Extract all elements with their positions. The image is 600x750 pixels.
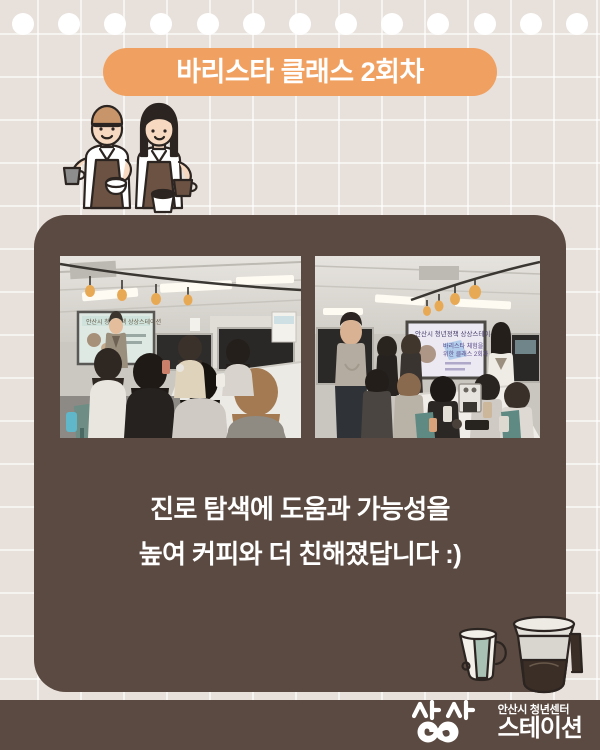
body-line-1: 진로 탐색에 도움과 가능성을 (34, 487, 566, 532)
top-dot (58, 13, 80, 35)
svg-text:바리스타 체험을: 바리스타 체험을 (443, 342, 484, 350)
svg-text:위한 클래스 2회차: 위한 클래스 2회차 (443, 350, 489, 358)
svg-text:안산시 청년정책 상상스테이션: 안산시 청년정책 상상스테이션 (86, 318, 161, 326)
footer-logo: 안산시 청년센터 스테이션 (412, 698, 582, 744)
page-title: 바리스타 클래스 2회차 (176, 59, 424, 86)
coffee-pot-and-mug-illustration (452, 604, 586, 694)
promo-card: 바리스타 클래스 2회차 (0, 0, 600, 750)
body-message: 진로 탐색에 도움과 가능성을 높여 커피와 더 친해졌답니다 :) (34, 487, 566, 576)
sangsang-infinity-logo-mark (412, 700, 490, 744)
footer-logo-sub: 안산시 청년센터 (498, 704, 570, 716)
photo-class-lecture: 안산시 청년정책 상상스테이션 (60, 256, 301, 438)
top-dot (150, 13, 172, 35)
photo-group-photo: 안산시 청년정책 상상스테이션 바리스타 체험을 위한 클래스 2회차 (315, 256, 540, 438)
top-dot (104, 13, 126, 35)
top-dot (381, 13, 403, 35)
top-dot (427, 13, 449, 35)
top-dot (335, 13, 357, 35)
footer-logo-words: 안산시 청년센터 스테이션 (498, 704, 582, 744)
top-dot (566, 13, 588, 35)
top-dot (520, 13, 542, 35)
footer-logo-main: 스테이션 (498, 716, 582, 741)
top-dot (474, 13, 496, 35)
body-line-2: 높여 커피와 더 친해졌답니다 :) (34, 532, 566, 577)
title-pill: 바리스타 클래스 2회차 (103, 48, 497, 96)
photo-gallery: 안산시 청년정책 상상스테이션 (60, 256, 540, 438)
top-dot (243, 13, 265, 35)
top-dots-row (0, 13, 600, 37)
two-baristas-illustration (52, 98, 202, 220)
top-dot (197, 13, 219, 35)
top-dot (289, 13, 311, 35)
top-dot (12, 13, 34, 35)
svg-text:안산시 청년정책 상상스테이션: 안산시 청년정책 상상스테이션 (415, 329, 496, 338)
